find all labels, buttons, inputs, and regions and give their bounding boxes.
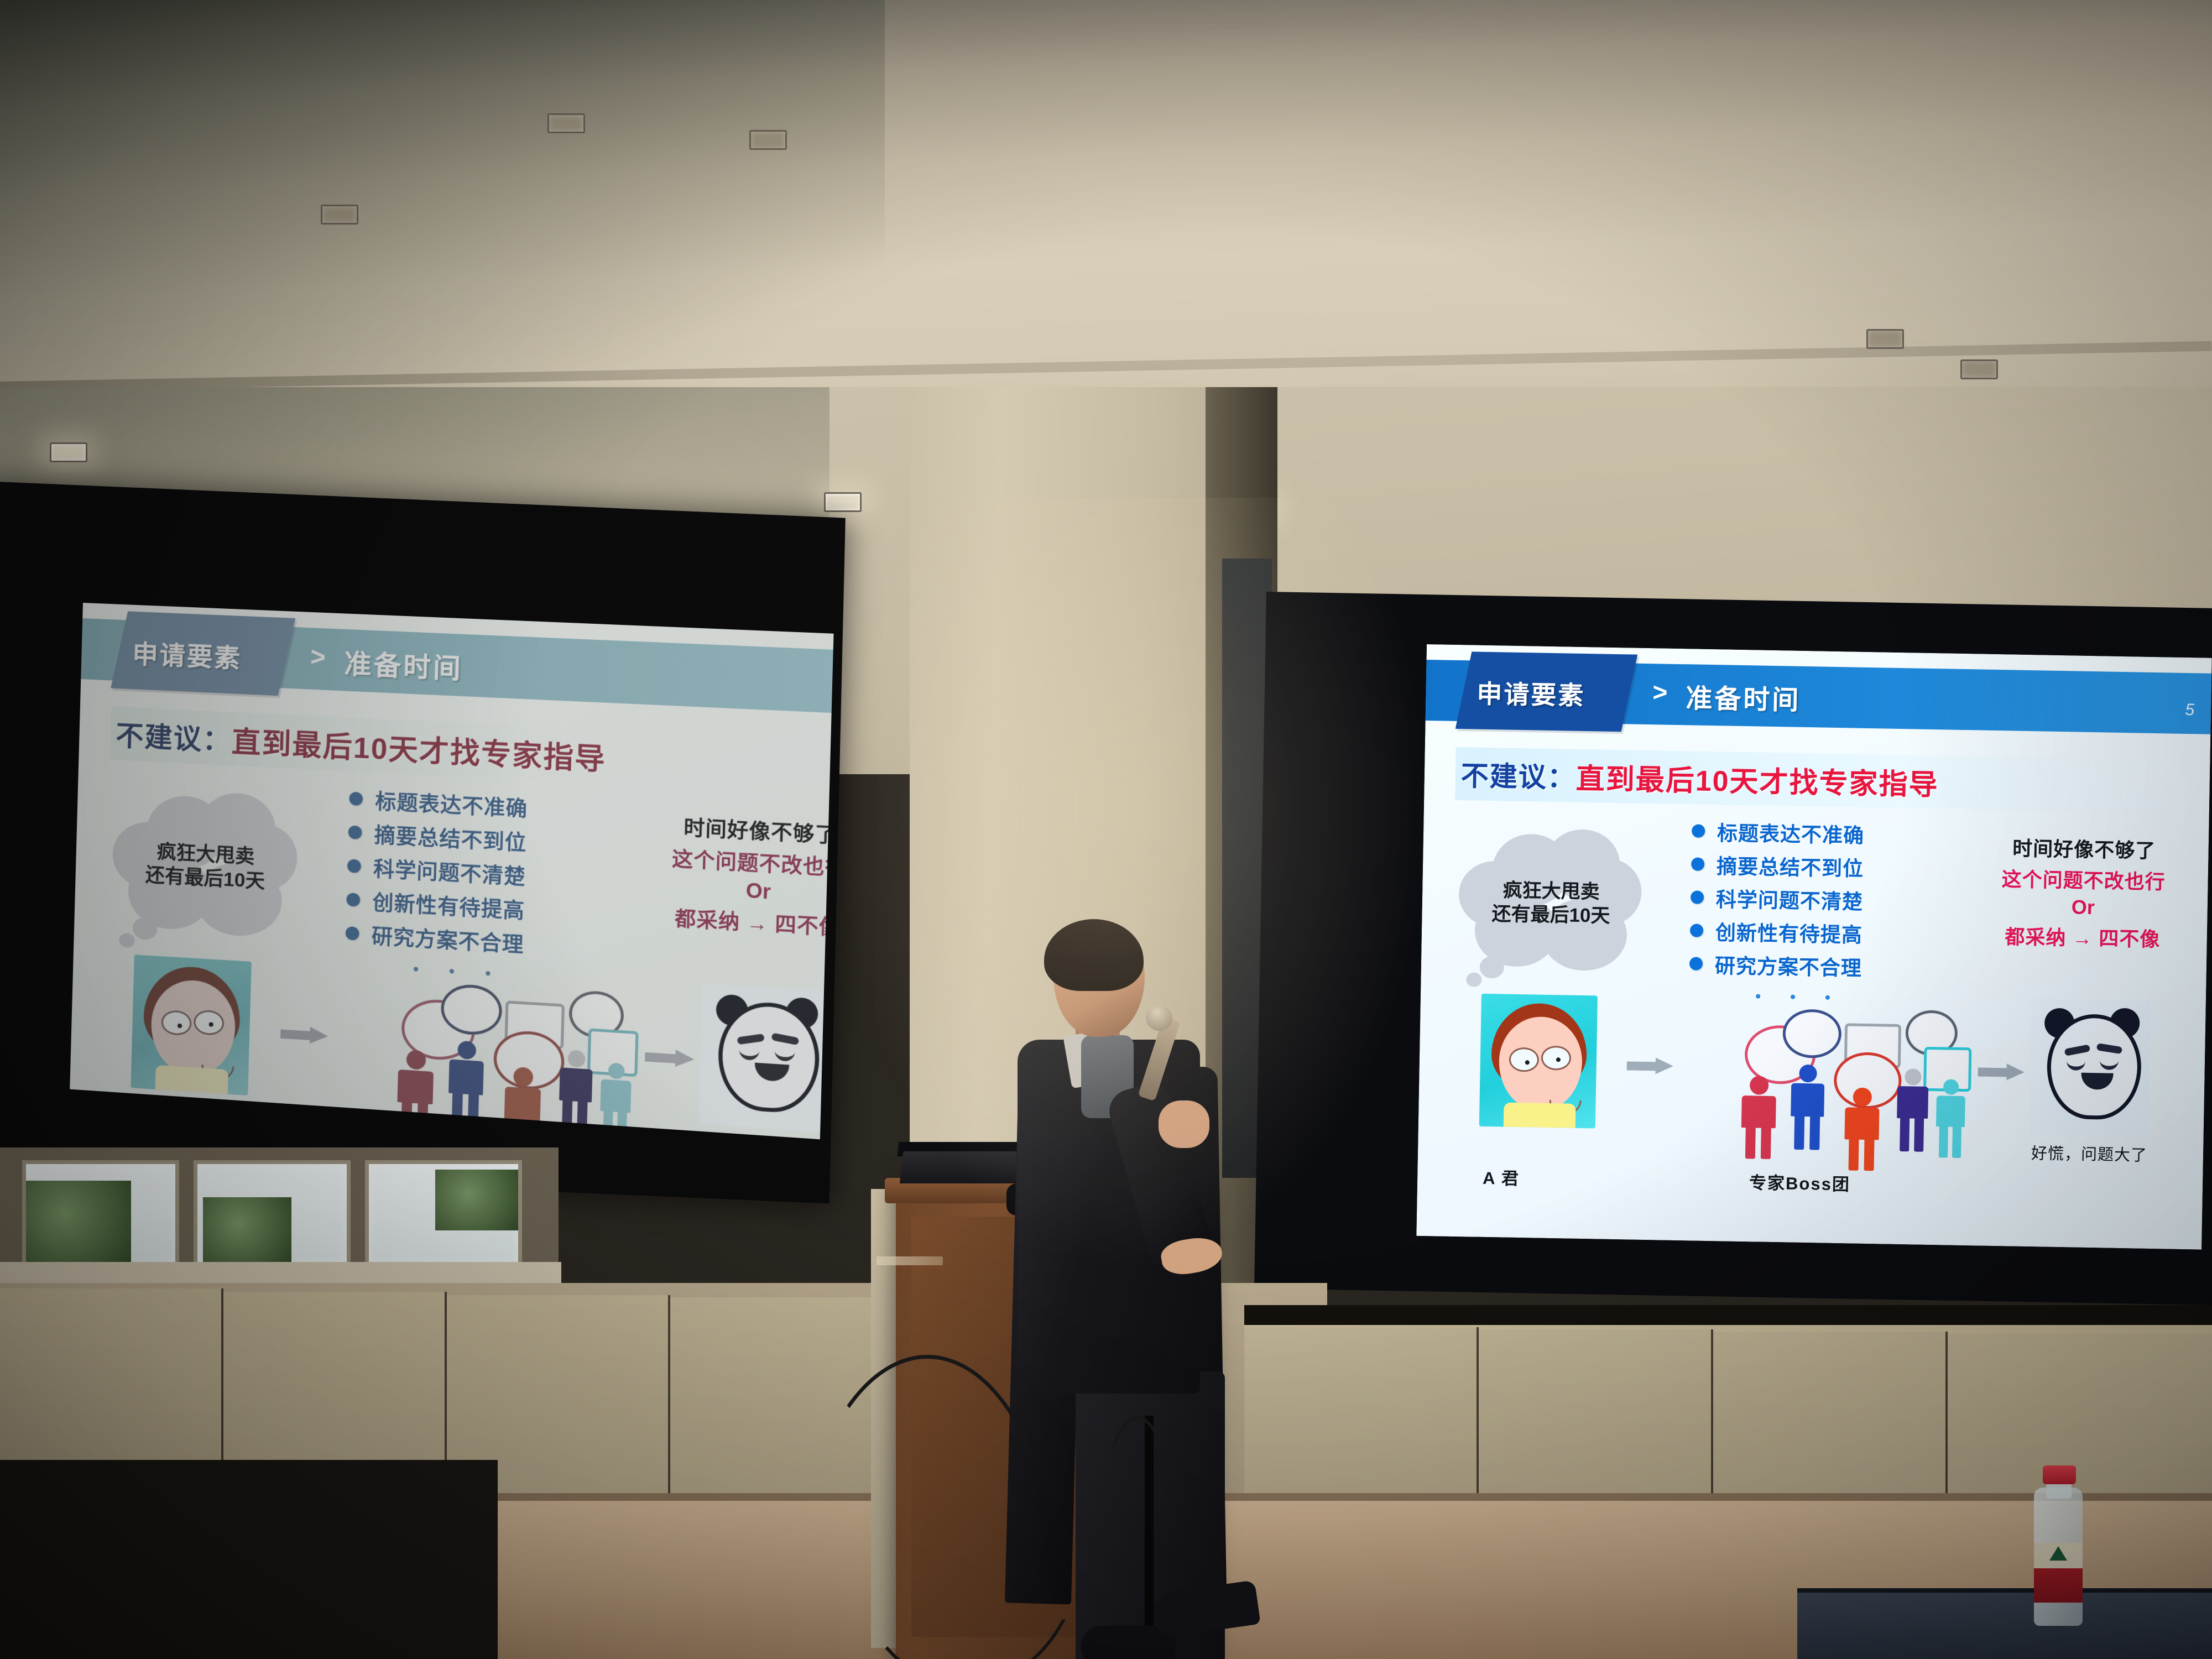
note-line-2: 这个问题不改也行 xyxy=(1973,863,2194,895)
bullet-dot-icon xyxy=(345,926,359,941)
bullet-text: 摘要总结不到位 xyxy=(1717,849,1864,882)
bullet-dot-icon xyxy=(1692,824,1705,837)
ceiling-downlight xyxy=(547,113,585,133)
bullet-text: 研究方案不合理 xyxy=(371,919,524,958)
arrow-right-icon xyxy=(280,1025,330,1045)
slide-character-row: 好慌，问题大了 A 君 专家Boss团 xyxy=(1417,987,2206,1183)
thought-cloud-text: 疯狂大甩卖 还有最后10天 xyxy=(132,839,279,894)
thought-cloud-text: 疯狂大甩卖 还有最后10天 xyxy=(1478,879,1624,928)
thought-cloud: 疯狂大甩卖 还有最后10天 xyxy=(1458,827,1642,974)
slide-bullet-list: 标题表达不准确 摘要总结不到位 科学问题不清楚 创新性有待提高 研究方案不合理 … xyxy=(345,783,620,991)
slide-left: 申请要素 > 准备时间 5 不建议： 直到最后10天才找专家指导 疯狂大甩卖 还… xyxy=(70,603,833,1139)
morty-eye-left xyxy=(1509,1047,1540,1072)
thought-bubble xyxy=(1782,1009,1842,1058)
morty-eye-right xyxy=(194,1009,225,1036)
expert-figure xyxy=(1933,1079,1968,1160)
slide-subtitle: 准备时间 xyxy=(1686,676,1801,717)
ceiling-downlight xyxy=(1960,359,1998,379)
bottle-cap xyxy=(2043,1465,2076,1484)
headline-prefix: 不建议： xyxy=(110,713,232,759)
headline-emphasis: 直到最后10天才找专家指导 xyxy=(231,718,607,778)
morty-character-image xyxy=(131,954,251,1095)
chevron-right-icon: > xyxy=(1652,677,1668,707)
bottle-label-lower xyxy=(2034,1568,2083,1603)
bottle-logo-icon xyxy=(2049,1546,2067,1561)
bullet-text: 创新性有待提高 xyxy=(372,885,525,924)
slide-section-tab-label: 申请要素 xyxy=(132,634,284,677)
bullet-text: 标题表达不准确 xyxy=(1717,816,1865,849)
arrow-right-icon xyxy=(645,1048,696,1068)
right-projection-screen[interactable]: 申请要素 > 准备时间 5 不建议： 直到最后10天才找专家指导 疯狂大甩卖 还… xyxy=(1416,644,2211,1250)
bullet-dot-icon xyxy=(346,893,360,907)
arrow-right-icon xyxy=(1627,1057,1675,1074)
list-item: 创新性有待提高 xyxy=(1690,915,1950,950)
bullet-dot-icon xyxy=(1689,957,1703,970)
morty-eye-left xyxy=(161,1010,192,1036)
expert-figure xyxy=(1841,1087,1883,1171)
headline-emphasis: 直到最后10天才找专家指导 xyxy=(1575,755,1939,802)
window-sill xyxy=(0,1262,561,1285)
bullet-text: 科学问题不清楚 xyxy=(373,852,526,891)
expert-figure xyxy=(1739,1076,1779,1159)
ceiling-downlight xyxy=(749,130,787,150)
slide-right-note: 时间好像不够了 这个问题不改也行 Or 都采纳 → 四不像 xyxy=(1972,832,2195,953)
left-projection-screen[interactable]: 申请要素 > 准备时间 5 不建议： 直到最后10天才找专家指导 疯狂大甩卖 还… xyxy=(70,603,833,1139)
slide-headline: 不建议： 直到最后10天才找专家指导 xyxy=(109,707,833,797)
panda-meme-image xyxy=(699,984,830,1132)
headline-prefix: 不建议： xyxy=(1455,754,1576,796)
panda-caption: 好慌，问题大了 xyxy=(2024,1140,2155,1166)
thought-cloud: 疯狂大甩卖 还有最后10天 xyxy=(111,787,299,942)
expert-figure xyxy=(1893,1068,1932,1156)
bullet-dot-icon xyxy=(1691,890,1704,904)
stage-floor-edge xyxy=(453,1493,2212,1501)
bullet-text: 研究方案不合理 xyxy=(1715,949,1863,982)
morty-shirt xyxy=(1504,1103,1576,1129)
note-line-4: 都采纳 → 四不像 xyxy=(1972,920,2194,953)
speaker-hand-holding-mic xyxy=(1159,1100,1209,1148)
morty-face xyxy=(1498,1016,1583,1110)
window-pane xyxy=(194,1160,351,1267)
expert-figure xyxy=(1787,1065,1828,1154)
bullet-text: 科学问题不清楚 xyxy=(1716,883,1864,915)
ceiling-downlight xyxy=(824,492,862,512)
chevron-right-icon: > xyxy=(310,641,326,672)
slide-section-tab-label: 申请要素 xyxy=(1477,674,1626,713)
window-pane xyxy=(22,1160,179,1267)
photo-scene: 申请要素 > 准备时间 5 不建议： 直到最后10天才找专家指导 疯狂大甩卖 还… xyxy=(0,0,2212,1659)
list-item: 研究方案不合理 xyxy=(1689,948,1950,983)
caption-expert-boss-group: 专家Boss团 xyxy=(1749,1168,1851,1195)
slide-right: 申请要素 > 准备时间 5 不建议： 直到最后10天才找专家指导 疯狂大甩卖 还… xyxy=(1416,644,2211,1250)
slide-page-number: 5 xyxy=(2185,701,2194,719)
expert-figures-group xyxy=(1728,993,1968,1162)
morty-shirt xyxy=(155,1065,228,1095)
note-line-3: Or xyxy=(1973,894,2194,921)
ceiling-downlight xyxy=(1866,329,1904,349)
arrow-right-icon xyxy=(1978,1063,2026,1081)
ceiling-downlight xyxy=(50,442,87,462)
ceiling-shadow xyxy=(0,0,885,420)
bullet-dot-icon xyxy=(349,792,363,806)
note-line-1: 时间好像不够了 xyxy=(1973,832,2195,864)
bullet-text: 摘要总结不到位 xyxy=(374,818,527,857)
window-pane xyxy=(365,1160,522,1267)
bullet-text: 创新性有待提高 xyxy=(1715,916,1863,948)
caption-a-jun: A 君 xyxy=(1483,1164,1520,1190)
panda-meme-image xyxy=(2030,999,2151,1136)
list-item: 科学问题不清楚 xyxy=(1691,882,1951,916)
slide-bullet-list: 标题表达不准确 摘要总结不到位 科学问题不清楚 创新性有待提高 研究方案不合理 … xyxy=(1689,816,1952,1009)
morty-character-image xyxy=(1479,994,1598,1129)
slide-right-note: 时间好像不够了 这个问题不改也行 Or 都采纳 → 四不像 xyxy=(640,809,834,943)
list-item: 摘要总结不到位 xyxy=(1691,849,1952,883)
floor-shadow-left xyxy=(0,1460,498,1659)
foreground-table xyxy=(1797,1593,2212,1659)
morty-eye-right xyxy=(1541,1046,1572,1071)
list-item: 标题表达不准确 xyxy=(1692,816,1952,850)
bullet-dot-icon xyxy=(348,825,362,839)
bullet-dot-icon xyxy=(1691,857,1704,870)
slide-subtitle: 准备时间 xyxy=(344,641,463,686)
floor-cable xyxy=(846,1537,1085,1659)
bullet-dot-icon xyxy=(347,859,361,873)
bullet-text: 标题表达不准确 xyxy=(375,785,528,823)
panda-head xyxy=(2046,1014,2142,1120)
ceiling-downlight xyxy=(321,205,358,225)
note-line-4: 都采纳 → 四不像 xyxy=(640,900,834,943)
bullet-dot-icon xyxy=(1690,924,1703,937)
podium-emblem xyxy=(877,1256,943,1265)
slide-headline: 不建议： 直到最后10天才找专家指导 xyxy=(1455,747,2185,813)
